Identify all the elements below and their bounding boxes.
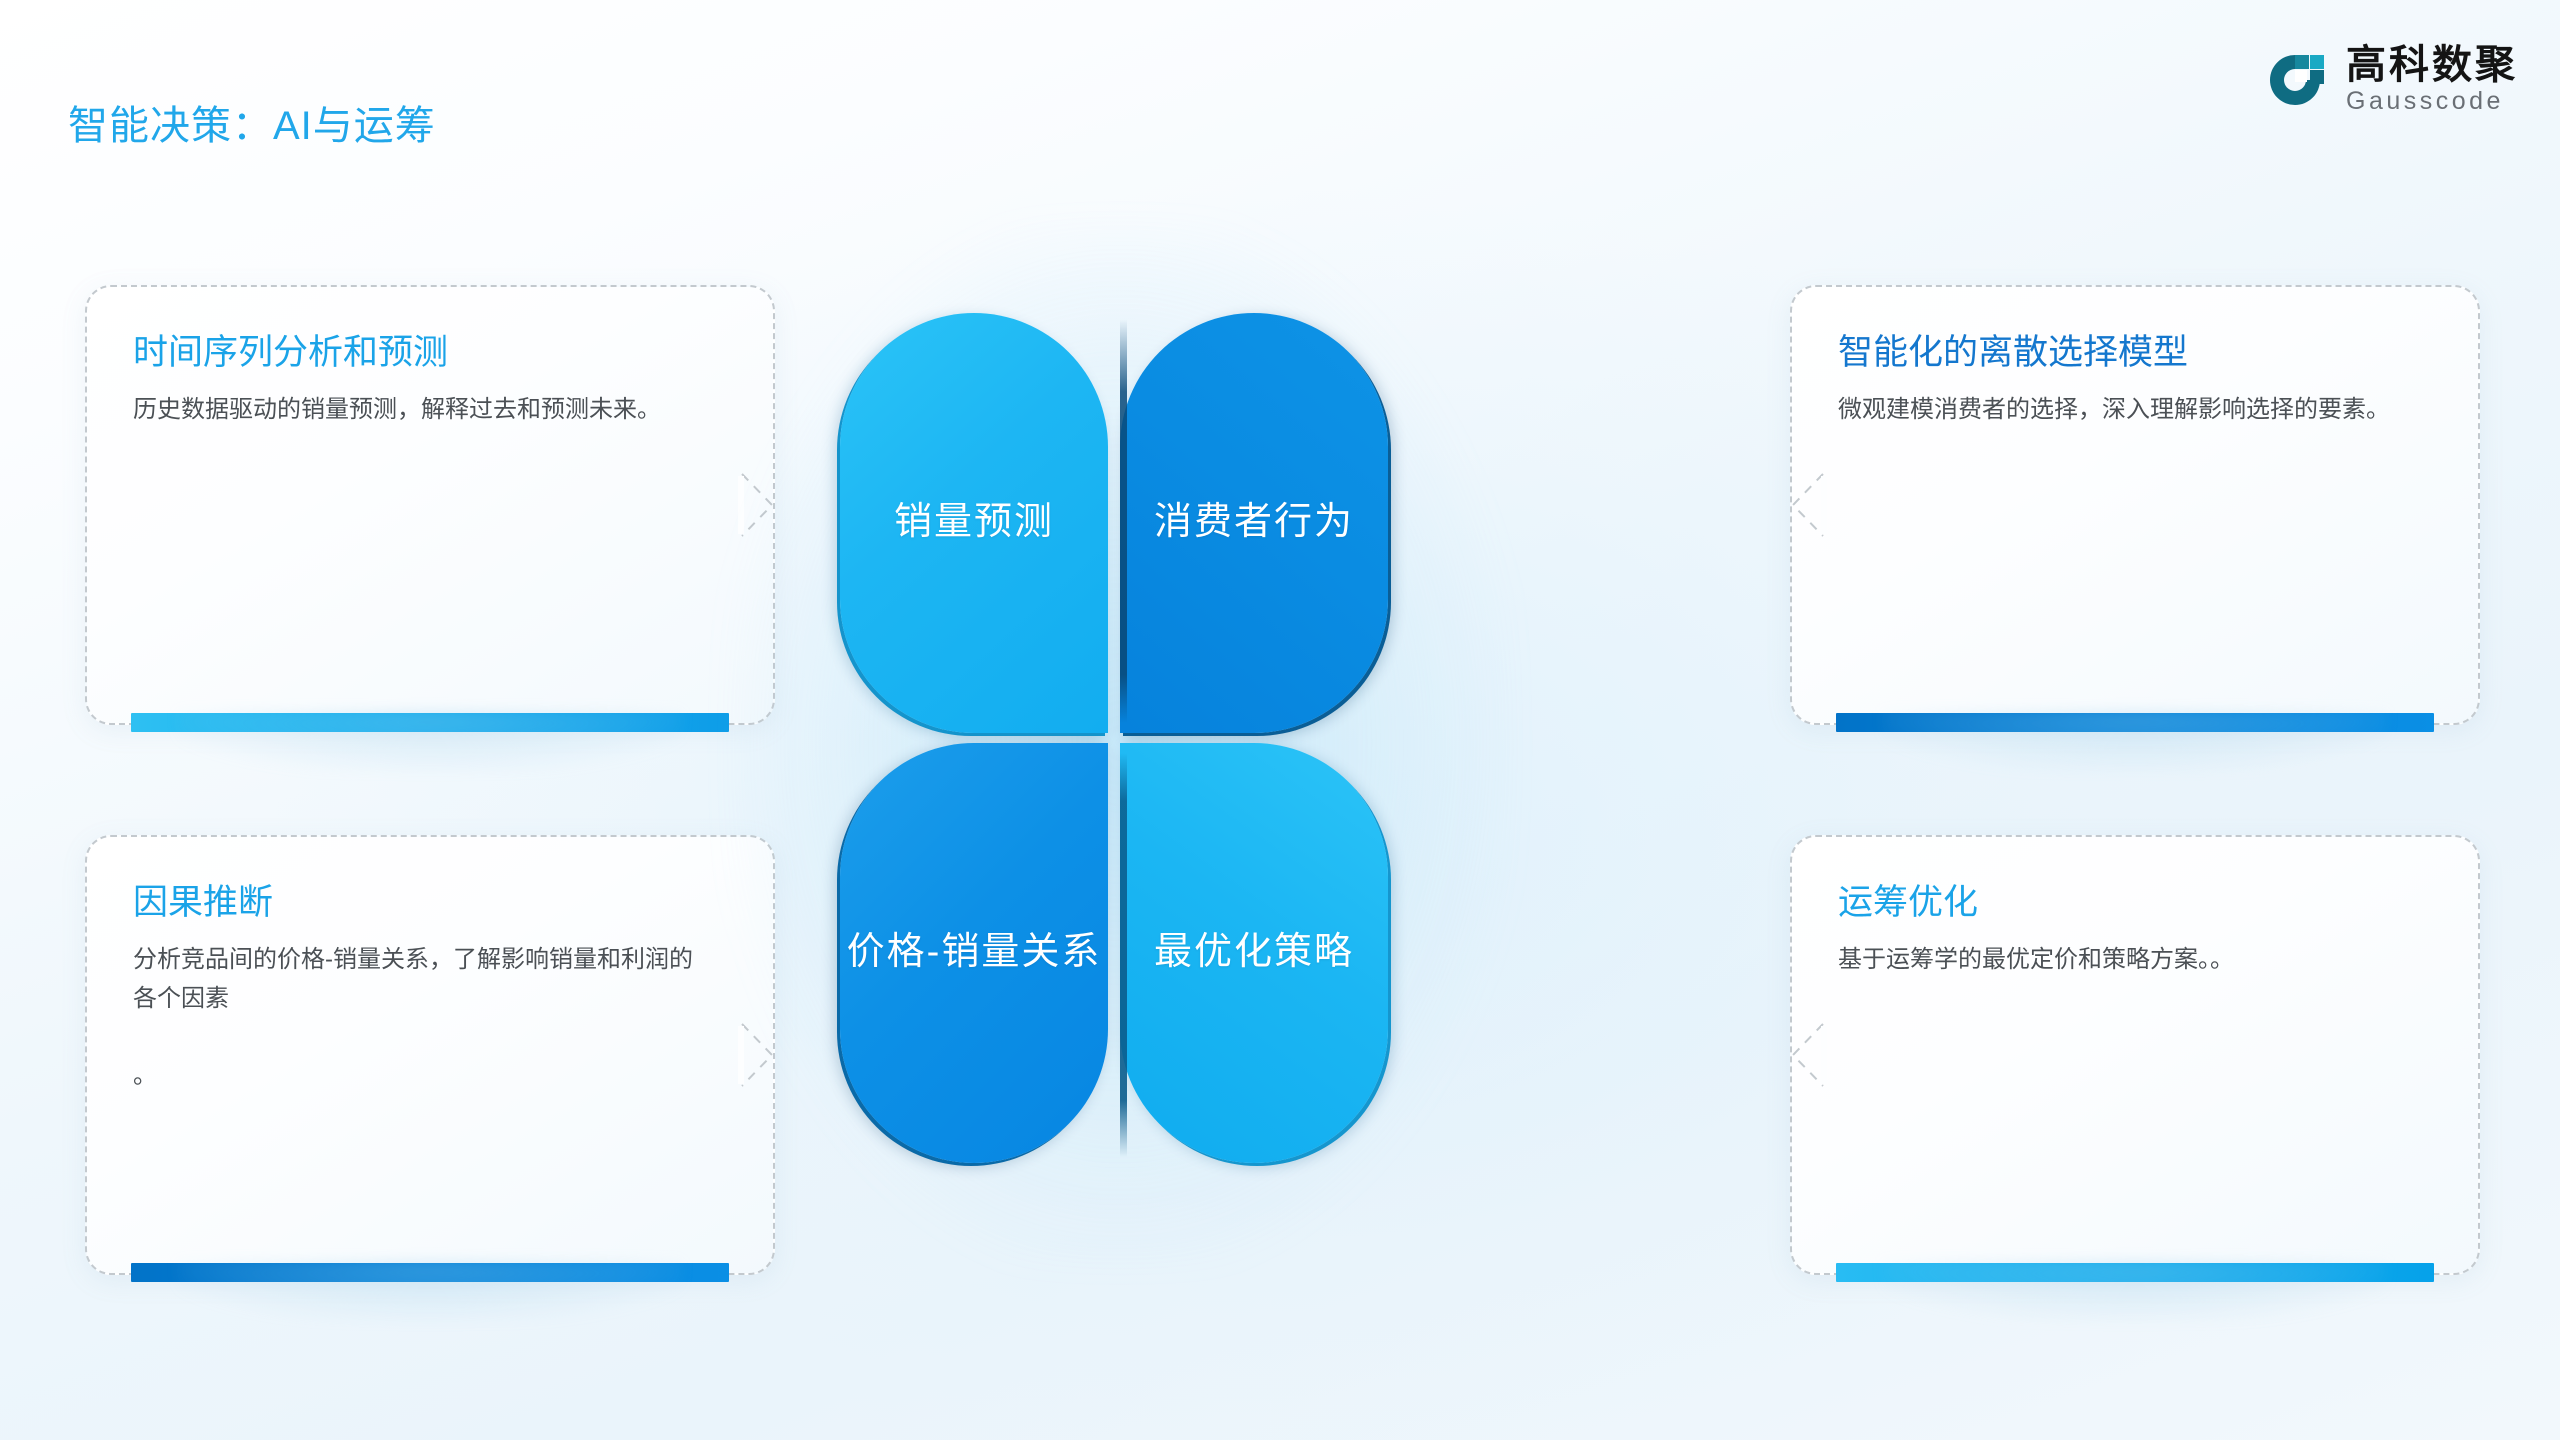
petal-label: 销量预测 [894, 500, 1054, 546]
card-content: 智能化的离散选择模型 微观建模消费者的选择，深入理解影响选择的要素。 [1792, 287, 2478, 723]
card-content: 时间序列分析和预测 历史数据驱动的销量预测，解释过去和预测未来。 [87, 287, 773, 723]
card-time-series[interactable]: 时间序列分析和预测 历史数据驱动的销量预测，解释过去和预测未来。 [85, 285, 775, 725]
card-body: 微观建模消费者的选择，深入理解影响选择的要素。 [1838, 391, 2398, 430]
logo-name-cn: 高科数聚 [2346, 44, 2518, 86]
petal-consumer-behavior[interactable]: 消费者行为 [1120, 313, 1388, 733]
petal-price-volume[interactable]: 价格-销量关系 [840, 743, 1108, 1163]
card-body: 分析竞品间的价格-销量关系，了解影响销量和利润的各个因素 。 [133, 941, 693, 1097]
card-body: 历史数据驱动的销量预测，解释过去和预测未来。 [133, 391, 693, 430]
connector-arrow-right-icon [742, 474, 776, 536]
slide-canvas: 智能决策：AI与运筹 高科数聚 Gausscode 时间序列分析和预测 历史数据… [0, 0, 2560, 1440]
card-body: 基于运筹学的最优定价和策略方案。。 [1838, 941, 2398, 980]
logo-name-en: Gausscode [2346, 88, 2504, 116]
card-title: 智能化的离散选择模型 [1838, 331, 2432, 375]
card-content: 运筹优化 基于运筹学的最优定价和策略方案。。 [1792, 837, 2478, 1273]
petal-label: 最优化策略 [1154, 930, 1354, 976]
card-accent-bar [131, 713, 729, 732]
logo-wordmark: 高科数聚 Gausscode [2346, 44, 2518, 116]
card-title: 时间序列分析和预测 [133, 331, 727, 375]
clover-diagram: 销量预测 消费者行为 价格-销量关系 最优化策略 [840, 313, 1400, 1173]
card-accent-bar [1836, 1263, 2434, 1282]
card-causal-inference[interactable]: 因果推断 分析竞品间的价格-销量关系，了解影响销量和利润的各个因素 。 [85, 835, 775, 1275]
connector-arrow-right-icon [742, 1024, 776, 1086]
brand-logo: 高科数聚 Gausscode [2262, 44, 2518, 116]
card-title: 因果推断 [133, 881, 727, 925]
card-accent-bar [131, 1263, 729, 1282]
card-operations-optimization[interactable]: 运筹优化 基于运筹学的最优定价和策略方案。。 [1790, 835, 2480, 1275]
petal-label: 价格-销量关系 [847, 930, 1102, 976]
petal-optimal-strategy[interactable]: 最优化策略 [1120, 743, 1388, 1163]
page-title: 智能决策：AI与运筹 [68, 104, 436, 148]
petal-label: 消费者行为 [1154, 500, 1354, 546]
card-discrete-choice[interactable]: 智能化的离散选择模型 微观建模消费者的选择，深入理解影响选择的要素。 [1790, 285, 2480, 725]
card-title: 运筹优化 [1838, 881, 2432, 925]
petal-sales-forecast[interactable]: 销量预测 [840, 313, 1108, 733]
connector-arrow-left-icon [1789, 1024, 1823, 1086]
card-content: 因果推断 分析竞品间的价格-销量关系，了解影响销量和利润的各个因素 。 [87, 837, 773, 1273]
connector-arrow-left-icon [1789, 474, 1823, 536]
card-accent-bar [1836, 713, 2434, 732]
logo-mark-icon [2262, 47, 2328, 113]
